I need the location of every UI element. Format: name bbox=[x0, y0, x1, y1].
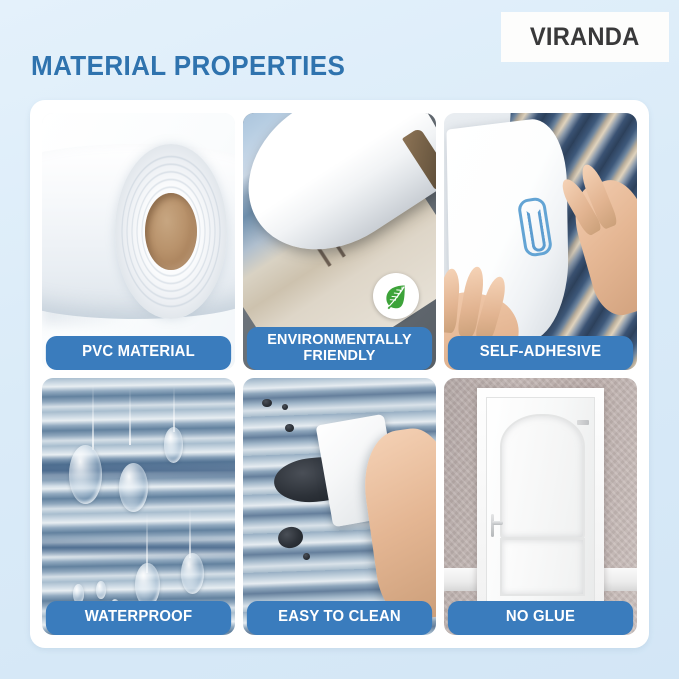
feature-card-easy-to-clean[interactable]: EASY TO CLEAN bbox=[243, 378, 436, 635]
door bbox=[486, 397, 596, 607]
features-panel: PVC MATERIAL bbox=[30, 100, 649, 648]
feature-card-waterproof[interactable]: WATERPROOF bbox=[42, 378, 235, 635]
feature-label-easy-to-clean: EASY TO CLEAN bbox=[247, 601, 432, 635]
feature-card-pvc-material[interactable]: PVC MATERIAL bbox=[42, 113, 235, 370]
features-grid: PVC MATERIAL bbox=[42, 113, 637, 635]
feature-card-environmentally-friendly[interactable]: ENVIRONMENTALLY FRIENDLY bbox=[243, 113, 436, 370]
no-glue-door-illustration bbox=[444, 378, 637, 635]
self-adhesive-illustration bbox=[444, 113, 637, 370]
eco-badge bbox=[373, 273, 419, 319]
leaf-icon bbox=[382, 282, 410, 310]
feature-label-line-2: FRIENDLY bbox=[249, 348, 430, 364]
infographic-page: MATERIAL PROPERTIES VIRANDA PVC MATERIAL bbox=[0, 0, 679, 679]
waterproof-illustration bbox=[42, 378, 235, 635]
easy-to-clean-illustration bbox=[243, 378, 436, 635]
feature-label-no-glue: NO GLUE bbox=[448, 601, 633, 635]
feature-label-waterproof: WATERPROOF bbox=[46, 601, 231, 635]
feature-label-environmentally-friendly: ENVIRONMENTALLY FRIENDLY bbox=[247, 327, 432, 370]
pvc-roll-illustration bbox=[42, 113, 235, 370]
door-handle bbox=[490, 514, 500, 537]
brand-name: VIRANDA bbox=[530, 23, 640, 52]
brand-logo-box: VIRANDA bbox=[501, 12, 669, 62]
feature-card-no-glue[interactable]: NO GLUE bbox=[444, 378, 637, 635]
roll-core bbox=[145, 193, 197, 270]
door-frame bbox=[477, 388, 604, 606]
feature-card-self-adhesive[interactable]: SELF-ADHESIVE bbox=[444, 113, 637, 370]
header: MATERIAL PROPERTIES VIRANDA bbox=[0, 0, 679, 100]
feature-label-pvc-material: PVC MATERIAL bbox=[46, 336, 231, 370]
feature-label-line-1: ENVIRONMENTALLY bbox=[249, 332, 430, 348]
feature-label-self-adhesive: SELF-ADHESIVE bbox=[448, 336, 633, 370]
page-title: MATERIAL PROPERTIES bbox=[31, 50, 345, 82]
